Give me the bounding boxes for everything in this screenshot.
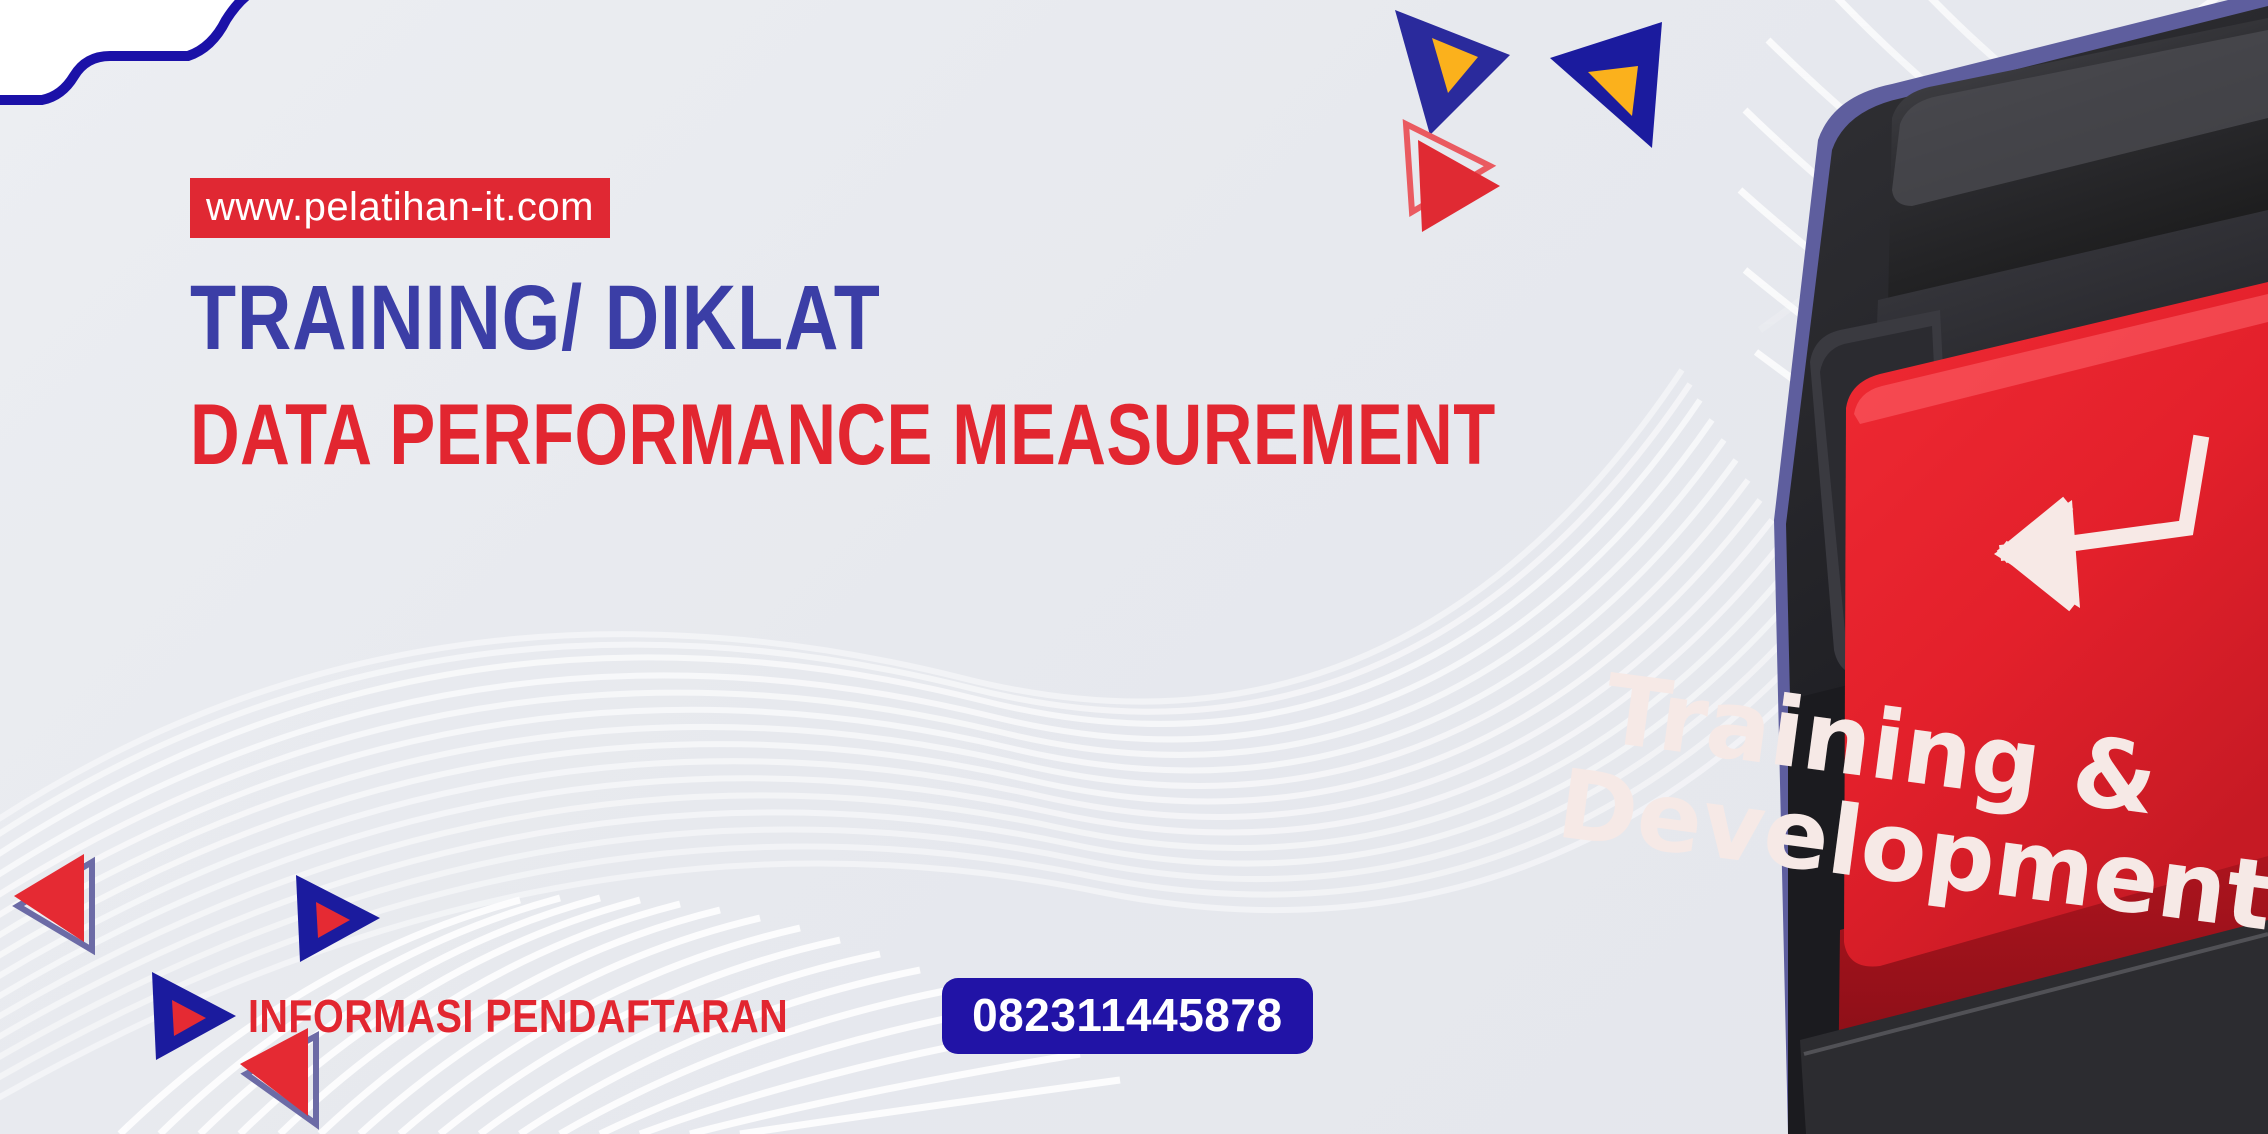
contact-row: INFORMASI PENDAFTARAN 082311445878 <box>248 978 1313 1054</box>
keyboard-illustration <box>1488 0 2268 1134</box>
text-column: www.pelatihan-it.com TRAINING/ DIKLAT DA… <box>190 178 1370 478</box>
website-badge[interactable]: www.pelatihan-it.com <box>190 178 610 238</box>
triangle-blue-red-icon-1 <box>296 875 380 962</box>
corner-blob-icon <box>0 0 350 190</box>
promotional-banner: Training & Development www.pelatihan-it.… <box>0 0 2268 1134</box>
phone-number-pill[interactable]: 082311445878 <box>942 978 1312 1054</box>
page-subtitle: DATA PERFORMANCE MEASUREMENT <box>190 392 1134 478</box>
triangle-red-outline-icon-1 <box>1406 124 1500 232</box>
page-title: TRAINING/ DIKLAT <box>190 272 1158 364</box>
triangle-red-purple-outline-icon-1 <box>14 854 92 950</box>
registration-label: INFORMASI PENDAFTARAN <box>248 989 788 1043</box>
